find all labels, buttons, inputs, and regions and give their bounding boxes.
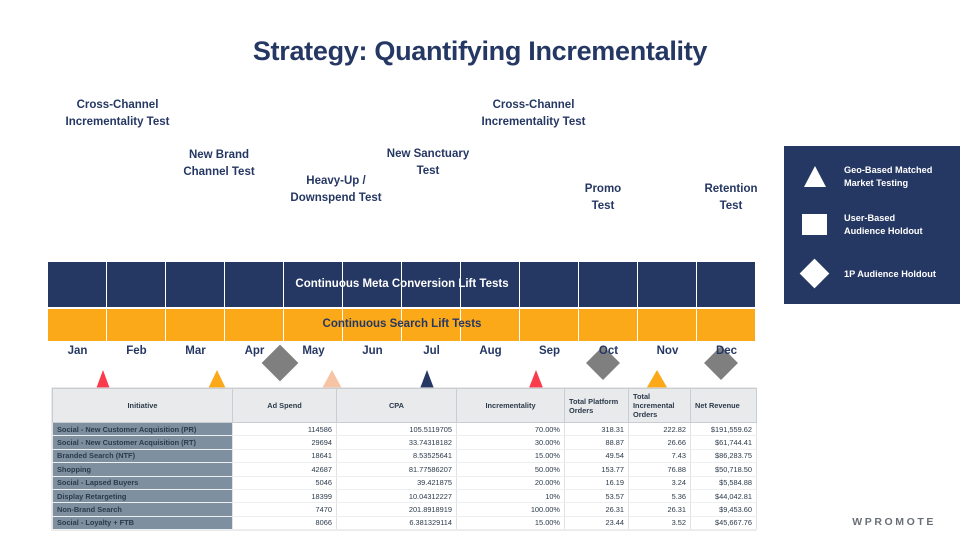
bar-cell	[166, 309, 225, 341]
cell-incrementality[interactable]: 15.00%	[457, 449, 565, 462]
bar-cell	[107, 309, 166, 341]
bar-cell	[461, 262, 520, 307]
cell-net-revenue[interactable]: $45,667.76	[691, 516, 757, 529]
cell-cpa[interactable]: 33.74318182	[337, 436, 457, 449]
column-header-total-platform-orders[interactable]: Total Platform Orders	[565, 389, 629, 423]
bar-cell	[461, 309, 520, 341]
month-label-jun: Jun	[343, 345, 402, 357]
legend-item-label: Geo-Based Matched Market Testing	[844, 164, 932, 191]
cell-initiative[interactable]: Social - Loyalty + FTB	[53, 516, 233, 529]
bar-cell	[343, 309, 402, 341]
month-label-aug: Aug	[461, 345, 520, 357]
triangle-icon	[798, 162, 832, 192]
cell-ad-spend[interactable]: 29694	[233, 436, 337, 449]
wpromote-logo: WPROMOTE	[852, 516, 936, 528]
cell-net-revenue[interactable]: $9,453.60	[691, 503, 757, 516]
cell-cpa[interactable]: 39.421875	[337, 476, 457, 489]
table-row[interactable]: Non-Brand Search7470201.8918919100.00%26…	[53, 503, 757, 516]
column-header-total-incremental-orders[interactable]: Total Incremental Orders	[629, 389, 691, 423]
table-row[interactable]: Social - New Customer Acquisition (PR)11…	[53, 423, 757, 436]
bar-cell	[579, 309, 638, 341]
cell-cpa[interactable]: 10.04312227	[337, 489, 457, 502]
cell-ad-spend[interactable]: 7470	[233, 503, 337, 516]
month-label-dec: Dec	[697, 345, 756, 357]
cell-initiative[interactable]: Social - New Customer Acquisition (RT)	[53, 436, 233, 449]
table-body: Social - New Customer Acquisition (PR)11…	[53, 423, 757, 530]
table-row[interactable]: Social - New Customer Acquisition (RT)29…	[53, 436, 757, 449]
results-table: Initiative Ad Spend CPA Incrementality T…	[52, 388, 757, 530]
legend-item-label: 1P Audience Holdout	[844, 268, 936, 281]
bar-cell	[579, 262, 638, 307]
marker-label-cross-channel-incrementality-test-aug: Cross-Channel Incrementality Test	[426, 97, 641, 132]
results-table-container[interactable]: Initiative Ad Spend CPA Incrementality T…	[52, 388, 756, 530]
bar-cell	[638, 309, 697, 341]
cell-ad-spend[interactable]: 8066	[233, 516, 337, 529]
month-label-feb: Feb	[107, 345, 166, 357]
cell-total-platform-orders[interactable]: 23.44	[565, 516, 629, 529]
cell-initiative[interactable]: Social - New Customer Acquisition (PR)	[53, 423, 233, 436]
timeline-bars: Continuous Meta Conversion Lift Tests Co…	[48, 262, 756, 341]
cell-incrementality[interactable]: 30.00%	[457, 436, 565, 449]
bar-cell	[520, 262, 579, 307]
column-header-ad-spend[interactable]: Ad Spend	[233, 389, 337, 423]
cell-total-incremental-orders[interactable]: 26.66	[629, 436, 691, 449]
bar-cell	[343, 262, 402, 307]
cell-total-platform-orders[interactable]: 88.87	[565, 436, 629, 449]
month-axis: Jan Feb Mar Apr May Jun Jul Aug Sep Oct …	[48, 345, 756, 357]
bar-cell	[697, 309, 756, 341]
page-title: Strategy: Quantifying Incrementality	[0, 36, 960, 67]
cell-net-revenue[interactable]: $191,559.62	[691, 423, 757, 436]
cell-total-platform-orders[interactable]: 16.19	[565, 476, 629, 489]
month-label-jul: Jul	[402, 345, 461, 357]
bar-cell	[402, 262, 461, 307]
column-header-initiative[interactable]: Initiative	[53, 389, 233, 423]
cell-net-revenue[interactable]: $61,744.41	[691, 436, 757, 449]
cell-total-incremental-orders[interactable]: 26.31	[629, 503, 691, 516]
column-header-incrementality[interactable]: Incrementality	[457, 389, 565, 423]
bar-cell	[520, 309, 579, 341]
cell-net-revenue[interactable]: $50,718.50	[691, 463, 757, 476]
legend-item-user-based-audience-holdout: User-Based Audience Holdout	[798, 210, 953, 240]
cell-initiative[interactable]: Branded Search (NTF)	[53, 449, 233, 462]
cell-incrementality[interactable]: 100.00%	[457, 503, 565, 516]
cell-ad-spend[interactable]: 5046	[233, 476, 337, 489]
cell-ad-spend[interactable]: 18399	[233, 489, 337, 502]
marker-label-new-sanctuary-test: New Sanctuary Test	[368, 146, 488, 181]
month-label-mar: Mar	[166, 345, 225, 357]
cell-total-platform-orders[interactable]: 318.31	[565, 423, 629, 436]
cell-total-incremental-orders[interactable]: 3.24	[629, 476, 691, 489]
cell-total-incremental-orders[interactable]: 3.52	[629, 516, 691, 529]
bar-cell	[697, 262, 756, 307]
month-label-may: May	[284, 345, 343, 357]
cell-total-incremental-orders[interactable]: 7.43	[629, 449, 691, 462]
bar-cell	[225, 262, 284, 307]
month-label-jan: Jan	[48, 345, 107, 357]
marker-label-cross-channel-incrementality-test-jan: Cross-Channel Incrementality Test	[10, 97, 225, 132]
month-label-oct: Oct	[579, 345, 638, 357]
table-row[interactable]: Display Retargeting1839910.0431222710%53…	[53, 489, 757, 502]
bar-cell	[225, 309, 284, 341]
bar-search-lift[interactable]: Continuous Search Lift Tests	[48, 309, 756, 341]
cell-total-incremental-orders[interactable]: 5.36	[629, 489, 691, 502]
cell-cpa[interactable]: 81.77586207	[337, 463, 457, 476]
bar-cell	[48, 309, 107, 341]
cell-total-platform-orders[interactable]: 49.54	[565, 449, 629, 462]
month-label-sep: Sep	[520, 345, 579, 357]
marker-label-retention-test: Retention Test	[679, 181, 783, 216]
cell-net-revenue[interactable]: $5,584.88	[691, 476, 757, 489]
cell-ad-spend[interactable]: 42687	[233, 463, 337, 476]
bar-cell	[638, 262, 697, 307]
column-header-net-revenue[interactable]: Net Revenue	[691, 389, 757, 423]
bar-cell	[107, 262, 166, 307]
cell-net-revenue[interactable]: $86,283.75	[691, 449, 757, 462]
month-label-apr: Apr	[225, 345, 284, 357]
table-row[interactable]: Shopping4268781.7758620750.00%153.7776.8…	[53, 463, 757, 476]
cell-ad-spend[interactable]: 114586	[233, 423, 337, 436]
cell-initiative[interactable]: Shopping	[53, 463, 233, 476]
cell-initiative[interactable]: Display Retargeting	[53, 489, 233, 502]
month-label-nov: Nov	[638, 345, 697, 357]
slide-canvas: Strategy: Quantifying Incrementality Cro…	[0, 0, 960, 540]
cell-incrementality[interactable]: 50.00%	[457, 463, 565, 476]
cell-cpa[interactable]: 105.5119705	[337, 423, 457, 436]
cell-total-platform-orders[interactable]: 153.77	[565, 463, 629, 476]
table-row[interactable]: Social - Loyalty + FTB80666.38132911415.…	[53, 516, 757, 529]
cell-initiative[interactable]: Social - Lapsed Buyers	[53, 476, 233, 489]
cell-incrementality[interactable]: 70.00%	[457, 423, 565, 436]
cell-total-platform-orders[interactable]: 53.57	[565, 489, 629, 502]
bar-cell	[402, 309, 461, 341]
cell-total-incremental-orders[interactable]: 76.88	[629, 463, 691, 476]
cell-total-platform-orders[interactable]: 26.31	[565, 503, 629, 516]
bar-cell	[166, 262, 225, 307]
diamond-icon	[798, 260, 832, 290]
cell-initiative[interactable]: Non-Brand Search	[53, 503, 233, 516]
table-row[interactable]: Social - Lapsed Buyers504639.42187520.00…	[53, 476, 757, 489]
bar-meta-conversion-lift[interactable]: Continuous Meta Conversion Lift Tests	[48, 262, 756, 307]
square-icon	[798, 210, 832, 240]
table-row[interactable]: Branded Search (NTF)186418.5352564115.00…	[53, 449, 757, 462]
cell-ad-spend[interactable]: 18641	[233, 449, 337, 462]
bar-cell	[284, 309, 343, 341]
cell-incrementality[interactable]: 15.00%	[457, 516, 565, 529]
bar-cell	[284, 262, 343, 307]
cell-net-revenue[interactable]: $44,042.81	[691, 489, 757, 502]
column-header-cpa[interactable]: CPA	[337, 389, 457, 423]
cell-total-incremental-orders[interactable]: 222.82	[629, 423, 691, 436]
legend-item-geo-based-matched-market-testing: Geo-Based Matched Market Testing	[798, 162, 953, 192]
bar-cell	[48, 262, 107, 307]
cell-cpa[interactable]: 8.53525641	[337, 449, 457, 462]
cell-cpa[interactable]: 201.8918919	[337, 503, 457, 516]
marker-label-promo-test: Promo Test	[560, 181, 646, 216]
cell-incrementality[interactable]: 10%	[457, 489, 565, 502]
cell-cpa[interactable]: 6.381329114	[337, 516, 457, 529]
legend-panel: Geo-Based Matched Market Testing User-Ba…	[784, 146, 960, 304]
cell-incrementality[interactable]: 20.00%	[457, 476, 565, 489]
marker-label-new-brand-channel-test: New Brand Channel Test	[159, 147, 279, 182]
table-header-row: Initiative Ad Spend CPA Incrementality T…	[53, 389, 757, 423]
legend-item-label: User-Based Audience Holdout	[844, 212, 923, 239]
legend-item-1p-audience-holdout: 1P Audience Holdout	[798, 260, 958, 290]
